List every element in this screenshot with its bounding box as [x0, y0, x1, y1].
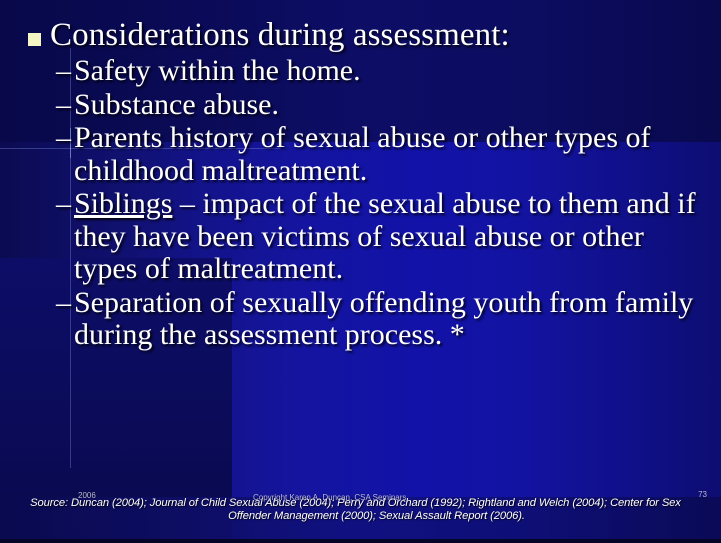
dash-bullet-icon: – [56, 122, 74, 155]
list-item-text: Separation of sexually offending youth f… [74, 287, 711, 352]
footer-copyright: Copyright Karen A. Duncan, CSA Seminars [253, 494, 406, 502]
list-item-text: Substance abuse. [74, 89, 711, 122]
list-item-text: Safety within the home. [74, 55, 711, 88]
footer-date: 2006 [78, 492, 96, 500]
slide-body: Considerations during assessment: – Safe… [0, 0, 721, 352]
dash-bullet-icon: – [56, 188, 74, 221]
page-title: Considerations during assessment: [50, 18, 711, 53]
list-item: – Safety within the home. [18, 55, 711, 88]
dash-bullet-icon: – [56, 287, 74, 320]
list-item-text: Parents history of sexual abuse or other… [74, 122, 711, 187]
dash-bullet-icon: – [56, 55, 74, 88]
list-item-emphasis: Siblings [74, 187, 172, 220]
presentation-slide: Considerations during assessment: – Safe… [0, 0, 721, 543]
list-item: – Siblings – impact of the sexual abuse … [18, 188, 711, 286]
dash-bullet-icon: – [56, 89, 74, 122]
list-item: – Parents history of sexual abuse or oth… [18, 122, 711, 187]
list-item: – Substance abuse. [18, 89, 711, 122]
slide-heading-bullet: Considerations during assessment: [18, 18, 711, 53]
sub-bullet-list: – Safety within the home. – Substance ab… [18, 55, 711, 352]
list-item-text: Siblings – impact of the sexual abuse to… [74, 188, 711, 286]
slide-bottom-rule [0, 539, 721, 543]
list-item: – Separation of sexually offending youth… [18, 287, 711, 352]
square-bullet-icon [28, 33, 41, 46]
footer-page-number: 73 [698, 491, 707, 499]
